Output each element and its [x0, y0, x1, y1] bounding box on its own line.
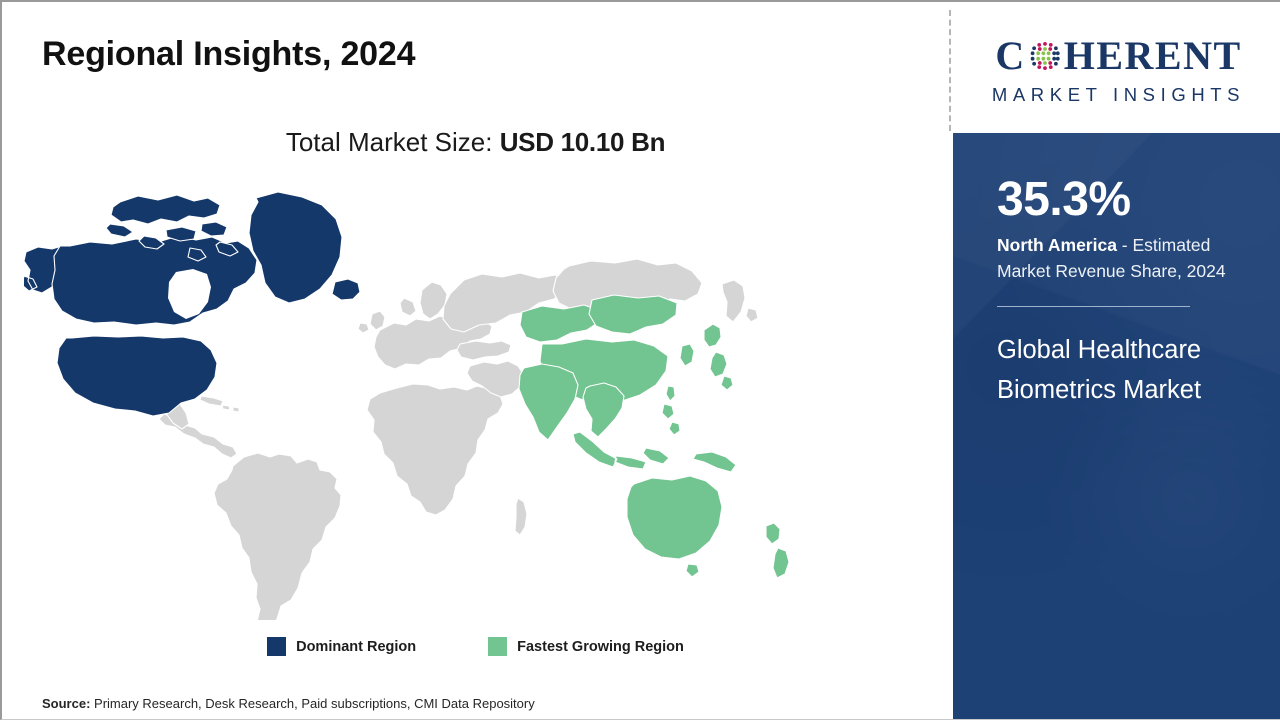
logo-letters-herent: HERENT: [1064, 36, 1242, 76]
country-south-america: [214, 453, 341, 620]
highlight-panel-content: 35.3% North America - Estimated Market R…: [953, 133, 1280, 410]
map-legend: Dominant Region Fastest Growing Region: [2, 637, 949, 656]
legend-label-fastest-growing: Fastest Growing Region: [517, 639, 684, 655]
world-map: [24, 180, 904, 620]
source-text: Primary Research, Desk Research, Paid su…: [90, 696, 534, 711]
legend-swatch-fastest-growing: [488, 637, 507, 656]
logo-letter-c: C: [995, 36, 1025, 76]
legend-label-dominant: Dominant Region: [296, 639, 416, 655]
country-madagascar: [515, 498, 527, 535]
legend-item-fastest-growing: Fastest Growing Region: [488, 637, 684, 656]
country-africa: [367, 384, 503, 515]
dotted-globe-icon: [1027, 38, 1063, 74]
region-central-asia: [520, 305, 601, 342]
left-content-pane: Regional Insights, 2024 Total Market Siz…: [2, 2, 949, 720]
country-new-zealand: [766, 523, 789, 578]
region-mongolia-north-china: [589, 295, 677, 334]
country-india: [519, 364, 578, 440]
region-southeast-asia: [583, 383, 624, 437]
region-far-east-russia: [722, 280, 758, 322]
vertical-dashed-divider: [949, 10, 951, 131]
page-title: Regional Insights, 2024: [42, 35, 415, 74]
region-korea: [680, 344, 694, 366]
world-map-svg: [24, 180, 904, 620]
share-description: North America - Estimated Market Revenue…: [997, 233, 1249, 284]
region-philippines: [662, 404, 680, 435]
share-region-name: North America: [997, 235, 1117, 255]
region-taiwan: [666, 386, 675, 401]
region-turkey-caucasus: [457, 341, 511, 360]
source-note: Source: Primary Research, Desk Research,…: [42, 696, 535, 711]
infographic-canvas: Regional Insights, 2024 Total Market Siz…: [0, 0, 1280, 720]
brand-logo: C: [955, 10, 1280, 128]
share-percentage: 35.3%: [997, 175, 1249, 225]
market-name: Global Healthcare Biometrics Market: [997, 331, 1227, 410]
total-market-size-label: Total Market Size:: [286, 127, 500, 157]
legend-swatch-dominant: [267, 637, 286, 656]
logo-wordmark: C: [995, 34, 1241, 78]
total-market-size: Total Market Size: USD 10.10 Bn: [2, 127, 949, 158]
logo-subtitle: MARKET INSIGHTS: [992, 84, 1245, 106]
region-indonesia: [573, 432, 669, 469]
country-greenland: [249, 192, 342, 303]
highlight-panel: 35.3% North America - Estimated Market R…: [953, 133, 1280, 720]
region-papua-new-guinea: [693, 452, 736, 472]
country-united-states: [57, 336, 217, 416]
source-label: Source:: [42, 696, 90, 711]
region-tasmania: [686, 564, 699, 577]
region-scandinavia: [400, 282, 447, 319]
panel-divider-rule: [997, 306, 1190, 307]
islands-caribbean: [200, 396, 239, 412]
legend-item-dominant: Dominant Region: [267, 637, 416, 656]
country-australia: [627, 476, 722, 559]
country-iceland: [332, 279, 360, 300]
country-japan: [704, 324, 733, 390]
total-market-size-value: USD 10.10 Bn: [500, 127, 665, 157]
